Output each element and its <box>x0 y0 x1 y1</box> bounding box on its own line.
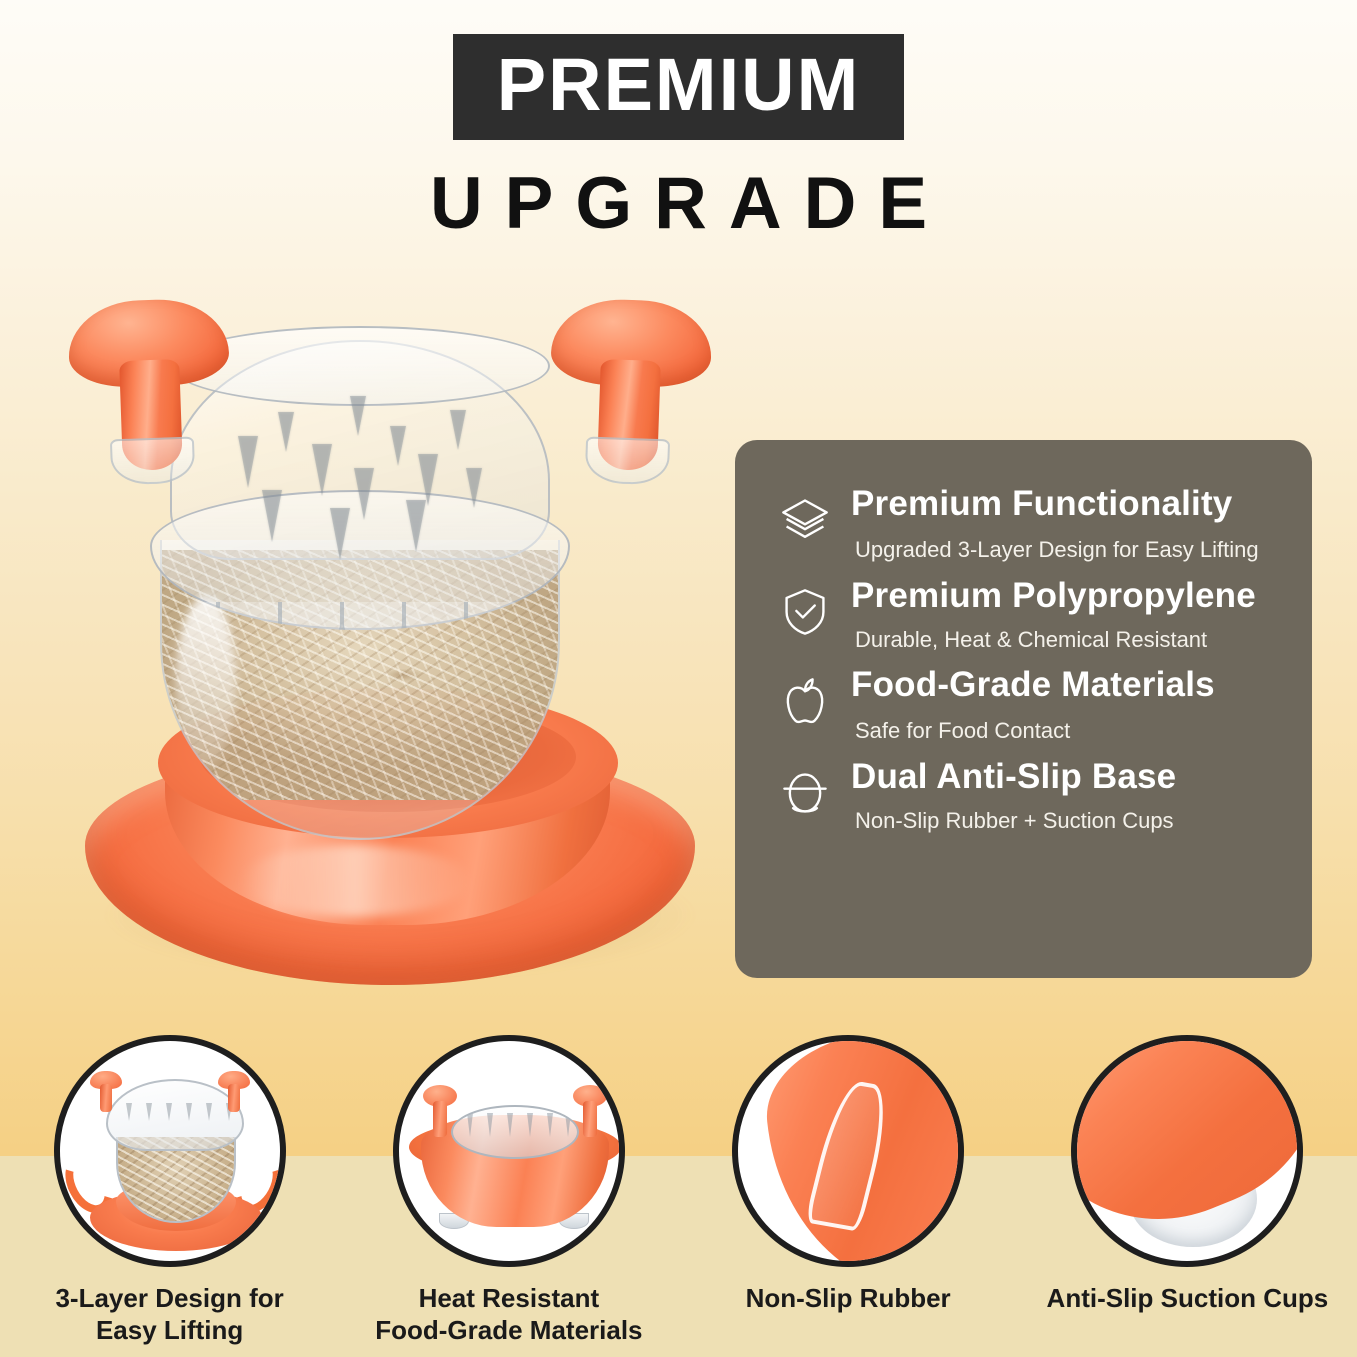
feature-item-food-grade-materials: Food-Grade Materials Safe for Food Conta… <box>769 663 1282 745</box>
premium-badge: PREMIUM <box>453 34 904 140</box>
thumbnail-image-heat-resistant <box>393 1035 625 1267</box>
lid-spike <box>312 444 332 496</box>
feature-panel: Premium Functionality Upgraded 3-Layer D… <box>735 440 1312 978</box>
feature-title: Premium Polypropylene <box>851 576 1256 615</box>
lid-spike <box>354 468 374 520</box>
feature-subtitle: Upgraded 3-Layer Design for Easy Lifting <box>855 537 1259 563</box>
feature-subtitle: Durable, Heat & Chemical Resistant <box>855 627 1256 653</box>
lid-spike <box>390 426 406 466</box>
thumbnail-item-heat-resistant: Heat Resistant Food-Grade Materials <box>339 1035 678 1357</box>
thumbnail-row: 3-Layer Design for Easy Lifting Heat Res… <box>0 1035 1357 1357</box>
thumbnail-image-non-slip-rubber <box>732 1035 964 1267</box>
feature-title: Premium Functionality <box>851 484 1259 523</box>
lid-spike <box>350 396 366 436</box>
lid-spike <box>466 468 482 508</box>
handle-collar <box>585 437 671 486</box>
feature-text: Food-Grade Materials Safe for Food Conta… <box>841 663 1215 745</box>
feature-item-dual-anti-slip-base: Dual Anti-Slip Base Non-Slip Rubber + Su… <box>769 755 1282 835</box>
header: PREMIUM UPGRADE <box>0 0 1357 243</box>
feature-item-premium-functionality: Premium Functionality Upgraded 3-Layer D… <box>769 482 1282 564</box>
product-base-highlight <box>240 845 470 917</box>
feature-text: Dual Anti-Slip Base Non-Slip Rubber + Su… <box>841 755 1176 835</box>
thumbnail-item-non-slip-rubber: Non-Slip Rubber <box>679 1035 1018 1357</box>
thumb-spiked-insert <box>451 1105 579 1159</box>
lid-spike <box>330 508 350 560</box>
feature-subtitle: Safe for Food Contact <box>855 718 1215 744</box>
lid-spike <box>262 490 282 542</box>
product-handle-right <box>547 297 713 472</box>
lid-spike <box>406 500 426 552</box>
feature-text: Premium Functionality Upgraded 3-Layer D… <box>841 482 1259 564</box>
thumbnail-item-three-layer-design: 3-Layer Design for Easy Lifting <box>0 1035 339 1357</box>
thumbnail-caption: Anti-Slip Suction Cups <box>1047 1283 1329 1315</box>
layers-icon <box>769 484 841 556</box>
feature-item-premium-polypropylene: Premium Polypropylene Durable, Heat & Ch… <box>769 574 1282 654</box>
thumbnail-caption: 3-Layer Design for Easy Lifting <box>55 1283 283 1346</box>
thumb-handle-right <box>218 1071 250 1111</box>
thumbnail-caption: Heat Resistant Food-Grade Materials <box>375 1283 642 1346</box>
hero-product-image <box>40 290 740 1020</box>
lid-spike <box>418 454 438 506</box>
feature-title: Food-Grade Materials <box>851 665 1215 704</box>
apple-icon <box>769 665 841 737</box>
thumbnail-image-suction-cups <box>1071 1035 1303 1267</box>
lid-spike <box>450 410 466 450</box>
feature-title: Dual Anti-Slip Base <box>851 757 1176 796</box>
thumbnail-image-three-layer-design <box>54 1035 286 1267</box>
feature-subtitle: Non-Slip Rubber + Suction Cups <box>855 808 1176 834</box>
feature-text: Premium Polypropylene Durable, Heat & Ch… <box>841 574 1256 654</box>
lid-spike <box>278 412 294 452</box>
page-title: UPGRADE <box>0 166 1357 243</box>
thumbnail-caption: Non-Slip Rubber <box>746 1283 951 1315</box>
thumb-handle-left <box>90 1071 122 1111</box>
suction-base-icon <box>769 757 841 829</box>
product-handle-left <box>67 297 233 472</box>
shield-check-icon <box>769 576 841 648</box>
lid-spike <box>238 436 258 488</box>
thumbnail-item-suction-cups: Anti-Slip Suction Cups <box>1018 1035 1357 1357</box>
